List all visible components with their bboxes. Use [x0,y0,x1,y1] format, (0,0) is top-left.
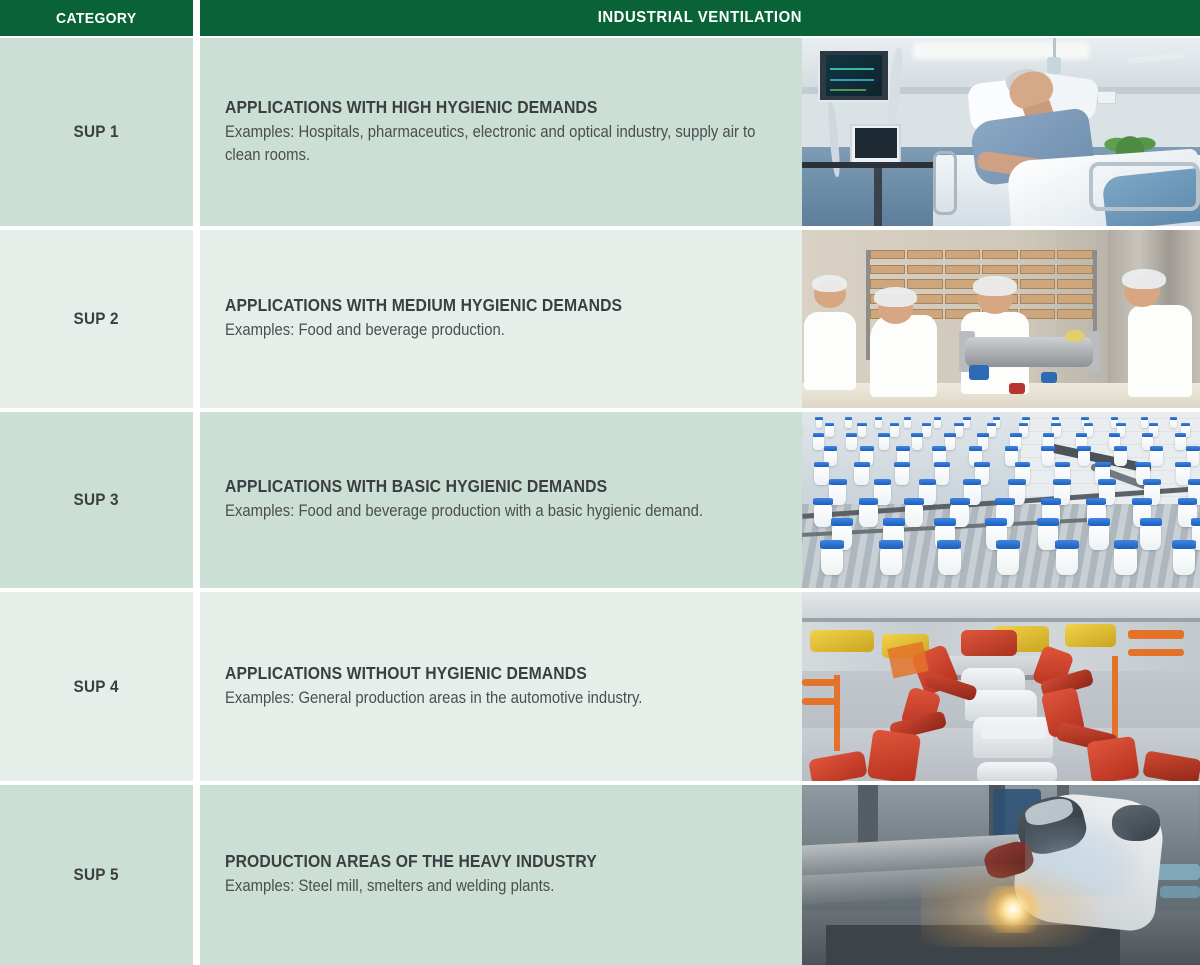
milk-bottle-field [802,412,1200,588]
header-category-label: CATEGORY [56,10,136,27]
header-cell-category: CATEGORY [0,0,193,36]
table-row: SUP 2 APPLICATIONS WITH MEDIUM HYGIENIC … [0,230,1200,408]
description-body: Examples: Food and beverage production w… [225,500,783,523]
industrial-ventilation-category-table: CATEGORY INDUSTRIAL VENTILATION SUP 1 AP… [0,0,1200,965]
category-cell: SUP 5 [0,785,193,965]
automotive-assembly-line-photo [802,592,1200,781]
category-cell: SUP 2 [0,230,193,408]
header-main-label: INDUSTRIAL VENTILATION [598,9,802,27]
welding-heavy-industry-photo [802,785,1200,965]
table-row: SUP 5 PRODUCTION AREAS OF THE HEAVY INDU… [0,785,1200,965]
category-label: SUP 2 [74,309,119,329]
column-divider [193,38,200,226]
description-body: Examples: Steel mill, smelters and weldi… [225,875,783,898]
description-body: Examples: Hospitals, pharmaceutics, elec… [225,121,783,168]
milk-bottling-conveyor-photo [802,412,1200,588]
column-divider [193,230,200,408]
description-title: APPLICATIONS WITH MEDIUM HYGIENIC DEMAND… [225,295,728,316]
description-body: Examples: Food and beverage production. [225,319,783,342]
table-row: SUP 4 APPLICATIONS WITHOUT HYGIENIC DEMA… [0,592,1200,781]
header-column-divider [193,0,200,36]
description-cell: APPLICATIONS WITH HIGH HYGIENIC DEMANDS … [200,38,802,226]
description-cell: APPLICATIONS WITH BASIC HYGIENIC DEMANDS… [200,412,802,588]
category-cell: SUP 3 [0,412,193,588]
description-title: APPLICATIONS WITH BASIC HYGIENIC DEMANDS [225,476,728,497]
header-cell-main: INDUSTRIAL VENTILATION [200,0,1200,36]
description-title: APPLICATIONS WITHOUT HYGIENIC DEMANDS [225,663,728,684]
bakery-food-production-photo [802,230,1200,408]
category-cell: SUP 4 [0,592,193,781]
description-cell: APPLICATIONS WITH MEDIUM HYGIENIC DEMAND… [200,230,802,408]
category-label: SUP 4 [74,677,119,697]
table-row: SUP 1 APPLICATIONS WITH HIGH HYGIENIC DE… [0,38,1200,226]
table-header-row: CATEGORY INDUSTRIAL VENTILATION [0,0,1200,36]
category-cell: SUP 1 [0,38,193,226]
description-title: APPLICATIONS WITH HIGH HYGIENIC DEMANDS [225,97,728,118]
description-cell: APPLICATIONS WITHOUT HYGIENIC DEMANDS Ex… [200,592,802,781]
hospital-patient-room-photo [802,38,1200,226]
column-divider [193,412,200,588]
table-row: SUP 3 APPLICATIONS WITH BASIC HYGIENIC D… [0,412,1200,588]
description-body: Examples: General production areas in th… [225,687,783,710]
category-label: SUP 1 [74,122,119,142]
description-cell: PRODUCTION AREAS OF THE HEAVY INDUSTRY E… [200,785,802,965]
column-divider [193,592,200,781]
category-label: SUP 5 [74,865,119,885]
category-label: SUP 3 [74,490,119,510]
description-title: PRODUCTION AREAS OF THE HEAVY INDUSTRY [225,851,728,872]
column-divider [193,785,200,965]
